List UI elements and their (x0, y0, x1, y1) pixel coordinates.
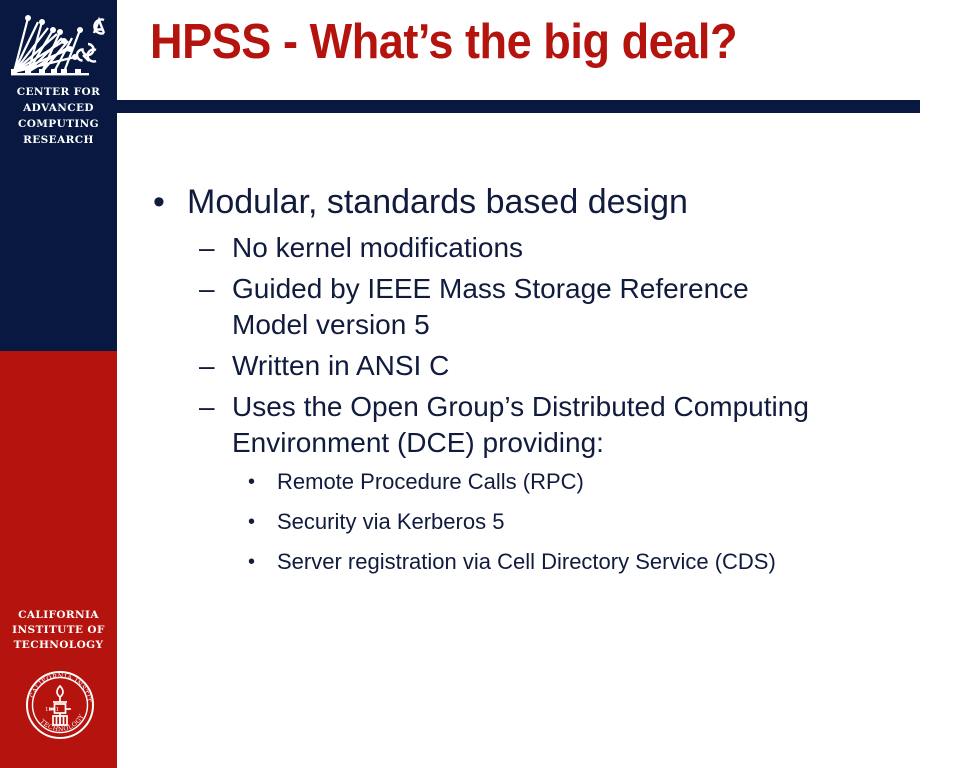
bullet-marker-icon: • (153, 180, 165, 224)
cacr-wordmark-line: CENTER FOR (0, 84, 117, 100)
cacr-wordmark-line: ADVANCED (0, 100, 117, 116)
bullet-marker-icon: • (248, 466, 255, 498)
cacr-wordmark-line: COMPUTING (0, 116, 117, 132)
dash-marker-icon: – (199, 348, 215, 384)
dash-marker-icon: – (199, 389, 215, 425)
caltech-wordmark-line: INSTITUTE OF (0, 623, 117, 638)
bullet-text: Uses the Open Group’s Distributed Comput… (232, 389, 832, 461)
bullet-text: No kernel modifications (232, 230, 832, 266)
dash-marker-icon: – (199, 271, 215, 307)
bullet-level3: • Server registration via Cell Directory… (117, 546, 937, 578)
cacr-wordmark-line: RESEARCH (0, 132, 117, 148)
dash-marker-icon: – (199, 230, 215, 266)
bullet-level2: – Guided by IEEE Mass Storage Reference … (117, 271, 937, 343)
caltech-wordmark-line: CALIFORNIA (0, 608, 117, 623)
caltech-wordmark: CALIFORNIA INSTITUTE OF TECHNOLOGY (0, 608, 117, 653)
cacr-wordmark: CENTER FOR ADVANCED COMPUTING RESEARCH (0, 84, 117, 148)
bullet-text: Modular, standards based design (187, 183, 688, 221)
cacr-rays-logo-icon (8, 8, 112, 80)
caltech-wordmark-line: TECHNOLOGY (0, 638, 117, 653)
title-divider (117, 100, 920, 113)
seal-year: 1891 (45, 707, 59, 713)
bullet-text: Security via Kerberos 5 (277, 509, 504, 534)
bullet-level2: – No kernel modifications (117, 230, 937, 266)
bullet-text: Remote Procedure Calls (RPC) (277, 469, 584, 494)
bullet-text: Written in ANSI C (232, 348, 832, 384)
caltech-seal-icon: CALIFORNIA INSTITUTE OF TECHNOLOGY (23, 668, 97, 742)
bullet-text: Server registration via Cell Directory S… (277, 549, 776, 574)
bullet-marker-icon: • (248, 506, 255, 538)
bullet-level2: – Uses the Open Group’s Distributed Comp… (117, 389, 937, 461)
page-title: HPSS - What’s the big deal? (150, 14, 877, 70)
slide-canvas: CENTER FOR ADVANCED COMPUTING RESEARCH C… (0, 0, 960, 768)
bullet-level2: – Written in ANSI C (117, 348, 937, 384)
bullet-level3: • Remote Procedure Calls (RPC) (117, 466, 937, 498)
bullet-level3: • Security via Kerberos 5 (117, 506, 937, 538)
bullet-text: Guided by IEEE Mass Storage Reference Mo… (232, 271, 832, 343)
bullet-marker-icon: • (248, 546, 255, 578)
bullet-level1: • Modular, standards based design (117, 180, 937, 224)
content-body: • Modular, standards based design – No k… (117, 180, 937, 586)
sidebar: CENTER FOR ADVANCED COMPUTING RESEARCH C… (0, 0, 117, 768)
